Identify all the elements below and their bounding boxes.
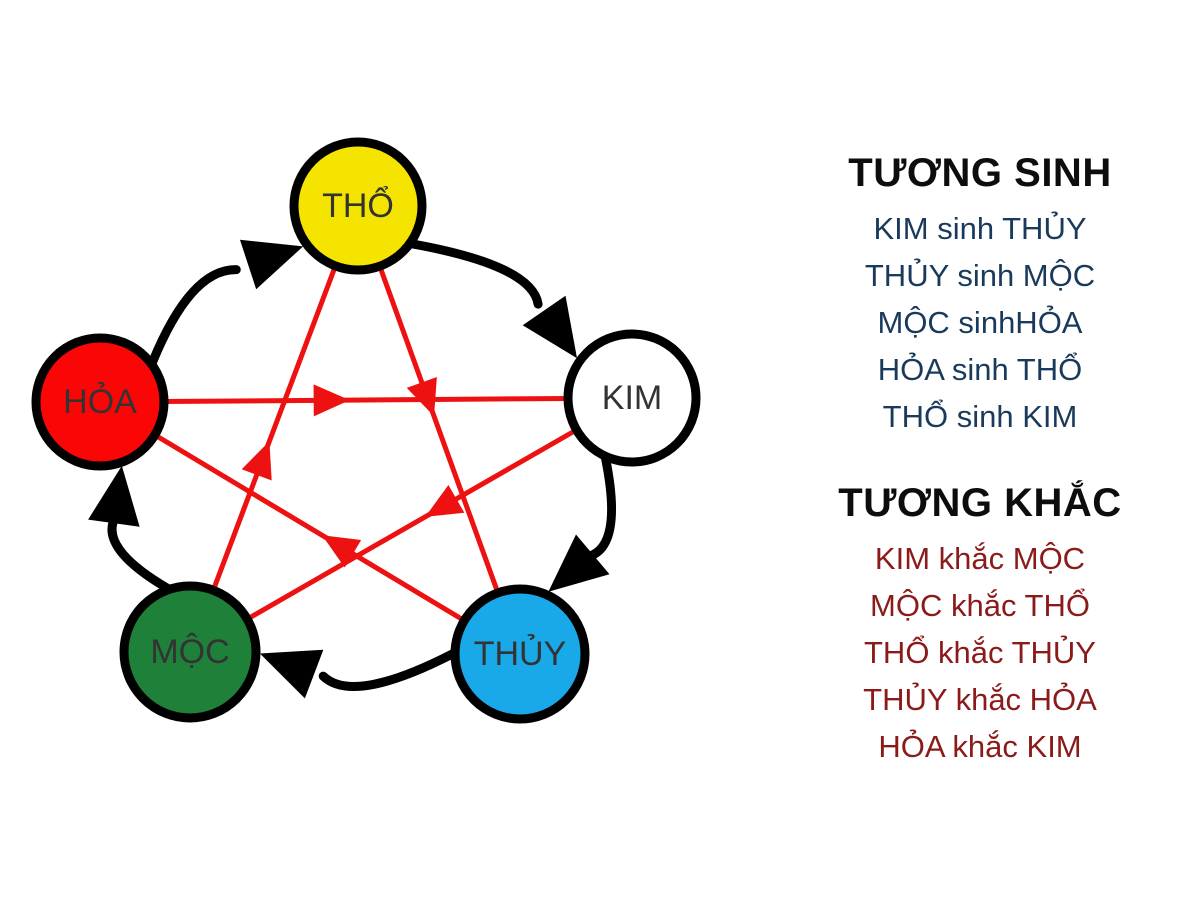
legend-lines-tuong-sinh: KIM sinh THỦYTHỦY sinh MỘCMỘC sinhHỎAHỎA… xyxy=(760,205,1200,440)
legend-lines-tuong-khac: KIM khắc MỘCMỘC khắc THỔTHỔ khắc THỦYTHỦ… xyxy=(760,535,1200,770)
legend-line: THỔ sinh KIM xyxy=(760,393,1200,440)
element-node-tho[interactable]: THỔ xyxy=(294,142,422,270)
element-node-kim[interactable]: KIM xyxy=(568,334,696,462)
overcoming-arrow-hoa-to-kim xyxy=(162,398,570,401)
legend-line: MỘC sinhHỎA xyxy=(760,299,1200,346)
overcoming-cycle-group xyxy=(153,264,578,622)
legend-title-tuong-khac: TƯƠNG KHẮC xyxy=(760,482,1200,525)
legend-line: KIM sinh THỦY xyxy=(760,205,1200,252)
node-circle-kim[interactable] xyxy=(568,334,696,462)
generating-arrow-hoa-to-tho xyxy=(153,270,237,362)
diagram-canvas: THỔKIMTHỦYMỘCHỎA xyxy=(0,0,760,900)
generating-arrow-tho-to-kim xyxy=(412,244,538,304)
element-node-hoa[interactable]: HỎA xyxy=(36,338,164,466)
generating-arrowhead-moc-to-hoa xyxy=(88,466,140,527)
overcoming-arrow-moc-to-tho xyxy=(213,264,337,592)
overcoming-arrowhead-tho-to-thuy xyxy=(407,377,437,416)
legend-line: HỎA khắc KIM xyxy=(760,723,1200,770)
generating-arrowhead-thuy-to-moc xyxy=(260,650,323,699)
legend-block-tuong-khac: TƯƠNG KHẮC KIM khắc MỘCMỘC khắc THỔTHỔ k… xyxy=(760,482,1200,770)
generating-arrowhead-tho-to-kim xyxy=(523,296,577,359)
legend-block-tuong-sinh: TƯƠNG SINH KIM sinh THỦYTHỦY sinh MỘCMỘC… xyxy=(760,152,1200,440)
generating-arrow-kim-to-thuy xyxy=(588,458,612,556)
element-node-thuy[interactable]: THỦY xyxy=(455,589,585,719)
element-nodes-group: THỔKIMTHỦYMỘCHỎA xyxy=(36,142,696,719)
legend-line: THỦY khắc HỎA xyxy=(760,676,1200,723)
overcoming-arrowhead-hoa-to-kim xyxy=(314,384,350,416)
generating-arrow-thuy-to-moc xyxy=(323,654,453,687)
node-circle-thuy[interactable] xyxy=(455,589,585,719)
node-circle-tho[interactable] xyxy=(294,142,422,270)
five-elements-diagram: THỔKIMTHỦYMỘCHỎA xyxy=(0,0,760,900)
legend-line: THỦY sinh MỘC xyxy=(760,252,1200,299)
legend-line: MỘC khắc THỔ xyxy=(760,582,1200,629)
legend-line: THỔ khắc THỦY xyxy=(760,629,1200,676)
overcoming-arrowhead-thuy-to-hoa xyxy=(322,535,361,567)
element-node-moc[interactable]: MỘC xyxy=(124,586,256,718)
legend-line: KIM khắc MỘC xyxy=(760,535,1200,582)
legend-panel: TƯƠNG SINH KIM sinh THỦYTHỦY sinh MỘCMỘC… xyxy=(760,0,1200,900)
page-root: THỔKIMTHỦYMỘCHỎA TƯƠNG SINH KIM sinh THỦ… xyxy=(0,0,1200,900)
overcoming-arrow-tho-to-thuy xyxy=(379,264,498,594)
legend-title-tuong-sinh: TƯƠNG SINH xyxy=(760,152,1200,195)
overcoming-arrowhead-moc-to-tho xyxy=(242,441,272,480)
legend-line: HỎA sinh THỔ xyxy=(760,346,1200,393)
node-circle-hoa[interactable] xyxy=(36,338,164,466)
generating-arrowhead-hoa-to-tho xyxy=(240,240,303,289)
node-circle-moc[interactable] xyxy=(124,586,256,718)
